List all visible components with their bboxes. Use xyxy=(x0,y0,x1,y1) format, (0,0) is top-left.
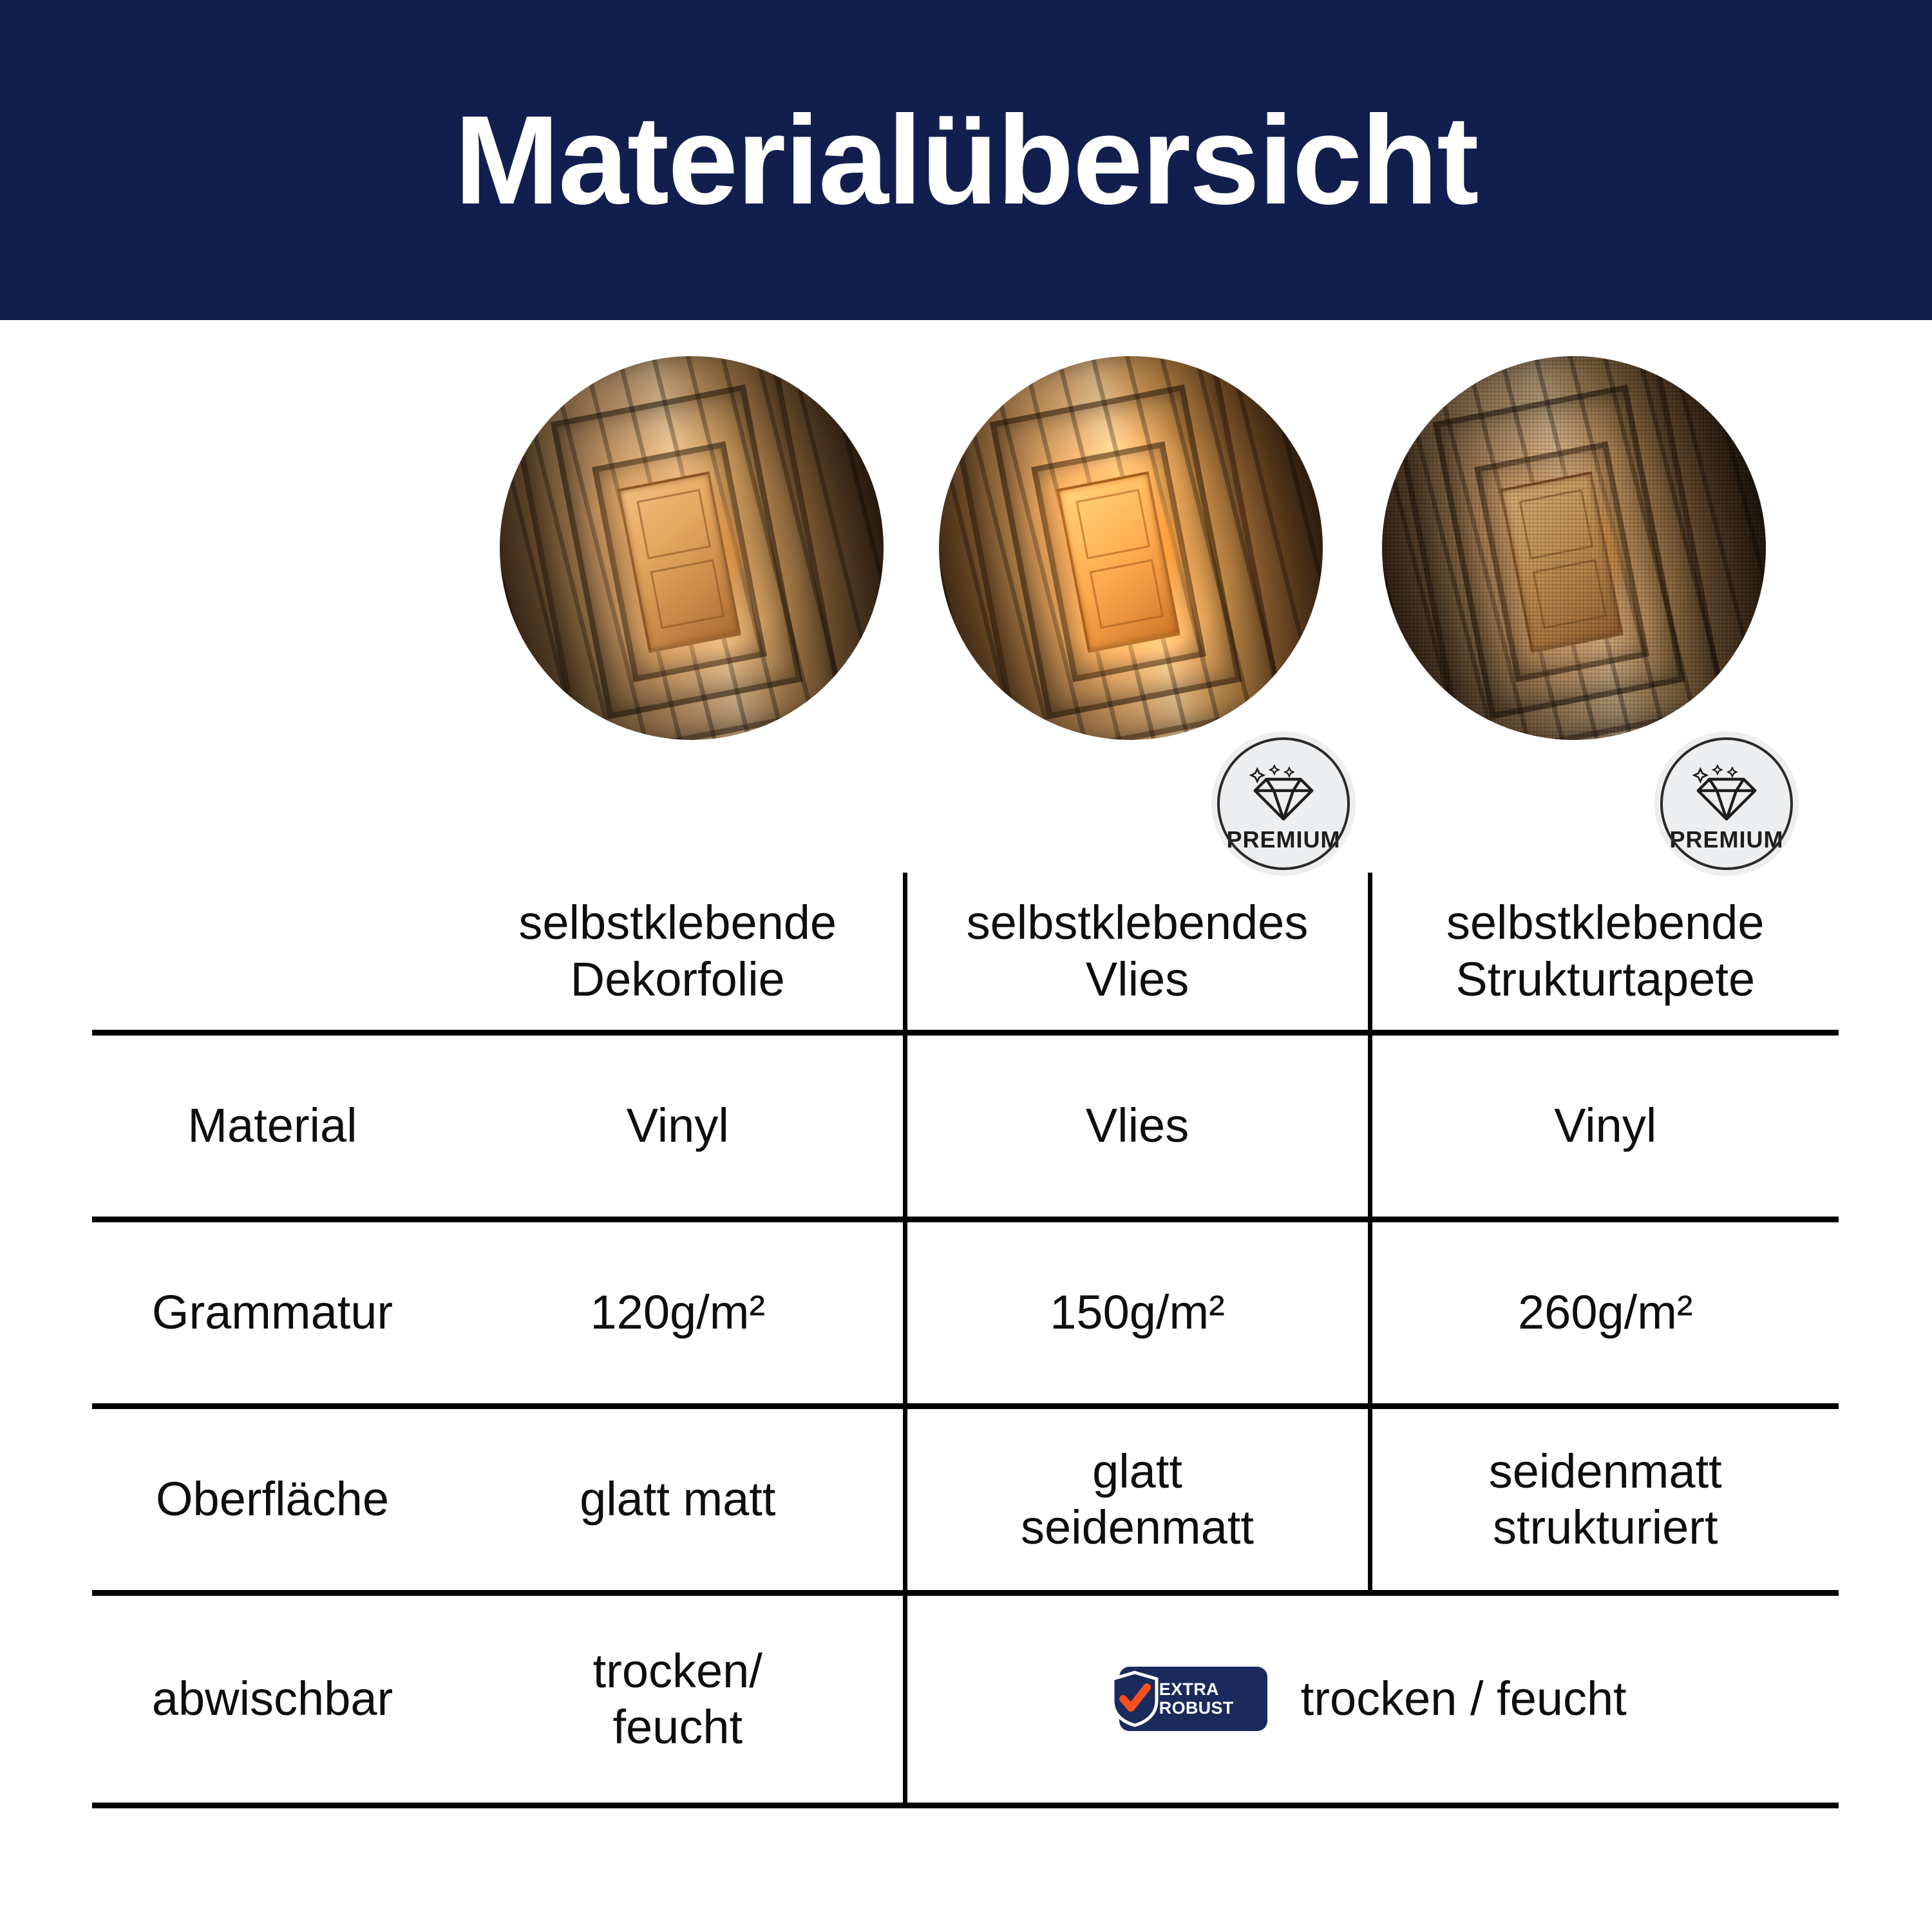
cell-oberflaeche-strukturtapete: seidenmatt strukturiert xyxy=(1370,1406,1839,1593)
column-header-line1: selbstklebende xyxy=(1379,895,1833,951)
cell-line1: glatt xyxy=(914,1443,1361,1499)
photo-vignette xyxy=(500,356,884,740)
material-comparison-table: selbstklebende Dekorfolie selbstklebende… xyxy=(92,873,1839,1808)
thumbnail-vlies[interactable] xyxy=(939,356,1323,740)
robust-line-2: ROBUST xyxy=(1159,1699,1234,1718)
cell-abwischbar-dekorfolie: trocken/ feucht xyxy=(453,1593,905,1805)
cell-oberflaeche-vlies: glatt seidenmatt xyxy=(905,1406,1370,1593)
table-row-material: Material Vinyl Vlies Vinyl xyxy=(92,1032,1839,1219)
table-row-grammatur: Grammatur 120g/m² 150g/m² 260g/m² xyxy=(92,1219,1839,1406)
extra-robust-badge: EXTRA ROBUST xyxy=(1119,1667,1267,1731)
premium-badge-strukturtapete: PREMIUM xyxy=(1651,728,1802,879)
cell-material-dekorfolie: Vinyl xyxy=(453,1032,905,1219)
column-header-line1: selbstklebende xyxy=(459,895,896,951)
robust-line-1: EXTRA xyxy=(1159,1680,1234,1699)
shield-check-icon xyxy=(1110,1671,1159,1727)
table-row-abwischbar: abwischbar trocken/ feucht xyxy=(92,1593,1839,1805)
row-label-grammatur: Grammatur xyxy=(92,1219,453,1406)
robust-cell-content: EXTRA ROBUST trocken / feucht xyxy=(914,1667,1833,1731)
cell-grammatur-dekorfolie: 120g/m² xyxy=(453,1219,905,1406)
row-label-material: Material xyxy=(92,1032,453,1219)
cell-abwischbar-merged-value: trocken / feucht xyxy=(1301,1671,1627,1727)
page-header-banner: Materialübersicht xyxy=(0,0,1932,320)
table-row-oberflaeche: Oberfläche glatt matt glatt seidenmatt s… xyxy=(92,1406,1839,1593)
thumbnail-strukturtapete[interactable] xyxy=(1382,356,1766,740)
cell-grammatur-strukturtapete: 260g/m² xyxy=(1370,1219,1839,1406)
cell-material-strukturtapete: Vinyl xyxy=(1370,1032,1839,1219)
thumbnail-dekorfolie[interactable] xyxy=(500,356,884,740)
cell-line1: seidenmatt xyxy=(1379,1443,1833,1499)
column-header-dekorfolie: selbstklebende Dekorfolie xyxy=(453,873,905,1032)
extra-robust-text: EXTRA ROBUST xyxy=(1159,1680,1234,1717)
cell-oberflaeche-dekorfolie: glatt matt xyxy=(453,1406,905,1593)
column-header-vlies: selbstklebendes Vlies xyxy=(905,873,1370,1032)
row-label-abwischbar: abwischbar xyxy=(92,1593,453,1805)
photo-vignette xyxy=(1382,356,1766,740)
photo-vignette xyxy=(939,356,1323,740)
cell-line2: seidenmatt xyxy=(914,1499,1361,1555)
badge-ring xyxy=(1660,737,1793,870)
cell-material-vlies: Vlies xyxy=(905,1032,1370,1219)
cell-grammatur-vlies: 150g/m² xyxy=(905,1219,1370,1406)
premium-badge-vlies: PREMIUM xyxy=(1208,728,1359,879)
column-header-line2: Vlies xyxy=(914,951,1361,1007)
material-overview-page: Materialübersicht xyxy=(0,0,1932,1932)
column-header-line1: selbstklebendes xyxy=(914,895,1361,951)
row-label-oberflaeche: Oberfläche xyxy=(92,1406,453,1593)
badge-ring xyxy=(1217,737,1350,870)
cell-line2: feucht xyxy=(459,1699,896,1755)
table-header-row: selbstklebende Dekorfolie selbstklebende… xyxy=(92,873,1839,1032)
column-header-strukturtapete: selbstklebende Strukturtapete xyxy=(1370,873,1839,1032)
column-header-line2: Dekorfolie xyxy=(459,951,896,1007)
cell-line2: strukturiert xyxy=(1379,1499,1833,1555)
cell-line1: trocken/ xyxy=(459,1643,896,1699)
page-title: Materialübersicht xyxy=(455,97,1478,223)
thumbnail-row: PREMIUM PREMIUM xyxy=(0,356,1932,749)
header-empty-cell xyxy=(92,873,453,1032)
column-header-line2: Strukturtapete xyxy=(1379,951,1833,1007)
cell-abwischbar-merged: EXTRA ROBUST trocken / feucht xyxy=(905,1593,1839,1805)
